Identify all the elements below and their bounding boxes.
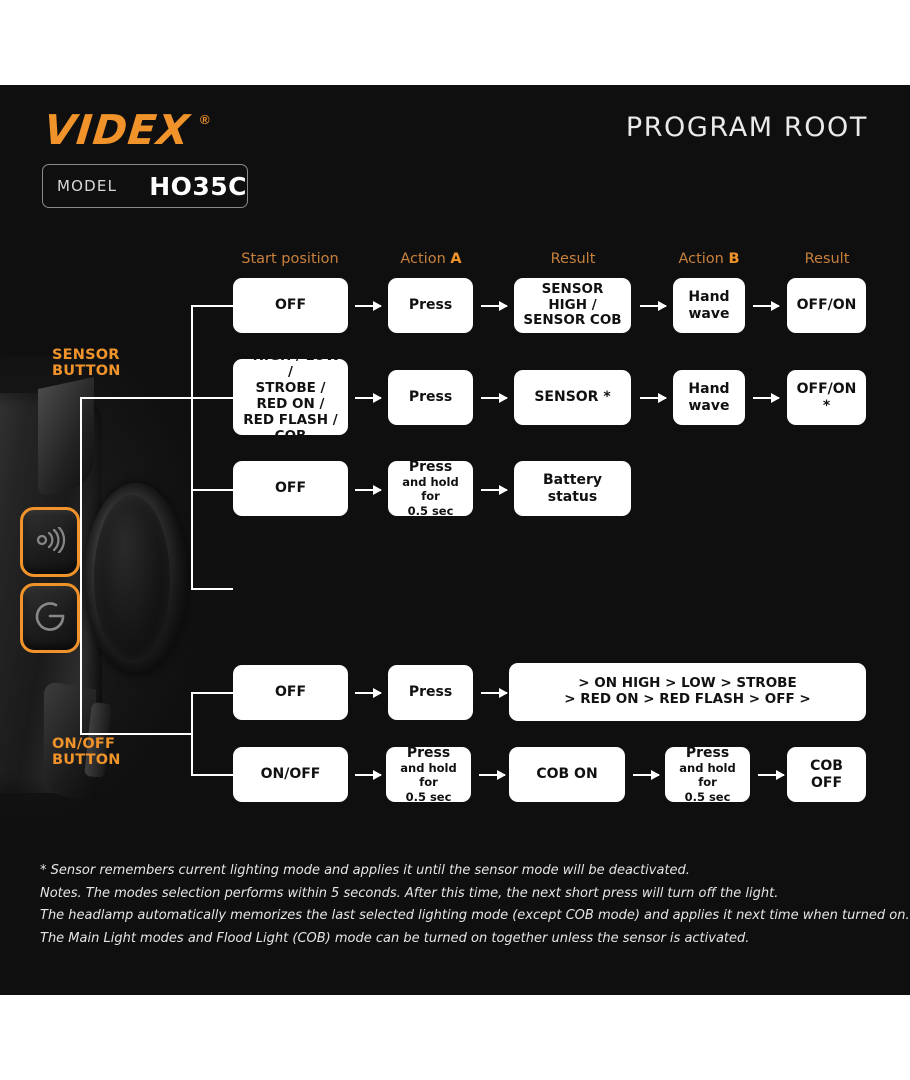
bracket-sensor-branch-3 bbox=[191, 489, 233, 491]
arrow-2c bbox=[640, 397, 666, 399]
side-label-onoff-button: ON/OFF BUTTON bbox=[52, 736, 121, 768]
node-label-main: Press bbox=[409, 459, 452, 475]
node-label-line2: STROBE / bbox=[256, 380, 326, 396]
node-label: Press and hold for 0.5 sec bbox=[671, 745, 744, 804]
node-action-hand-wave-1: Hand wave bbox=[673, 278, 745, 333]
node-label-line2: SENSOR COB bbox=[523, 312, 621, 328]
node-action-press-hold-3: Press and hold for 0.5 sec bbox=[665, 747, 750, 802]
arrow-1d bbox=[753, 305, 779, 307]
node-label-main: Press bbox=[686, 745, 729, 761]
node-start-off-1: OFF bbox=[233, 278, 348, 333]
node-label-line2: wave bbox=[688, 398, 729, 414]
side-label-line2: BUTTON bbox=[52, 363, 121, 379]
node-action-press-2: Press bbox=[388, 370, 473, 425]
bracket-onoff-branch-1 bbox=[191, 692, 233, 694]
node-label: Battery status bbox=[543, 472, 602, 505]
node-label: OFF bbox=[275, 684, 306, 701]
notes-block: * Sensor remembers current lighting mode… bbox=[40, 860, 880, 950]
arrow-1a bbox=[355, 305, 381, 307]
node-label: Press bbox=[409, 389, 452, 406]
column-header-label: Result bbox=[805, 251, 850, 267]
node-start-onoff: ON/OFF bbox=[233, 747, 348, 802]
side-label-sensor-button: SENSOR BUTTON bbox=[52, 347, 121, 379]
node-label-sub1: and hold for bbox=[671, 762, 744, 789]
node-label-line1: Battery bbox=[543, 472, 602, 488]
bracket-onoff-branch-2 bbox=[191, 774, 233, 776]
node-label: Hand wave bbox=[688, 289, 729, 322]
arrow-3b bbox=[481, 489, 507, 491]
bracket-sensor-stem bbox=[80, 397, 193, 399]
node-label-line1: Hand bbox=[688, 289, 729, 305]
node-label: * HIGH / LOW / STROBE / RED ON / RED FLA… bbox=[239, 349, 342, 445]
column-header-result-2: Result bbox=[788, 251, 866, 267]
node-start-off-2: OFF bbox=[233, 461, 348, 516]
column-header-action-a: Action A bbox=[388, 251, 474, 267]
node-label: OFF bbox=[275, 480, 306, 497]
node-label-sub1: and hold for bbox=[392, 762, 465, 789]
node-label-line1: SENSOR HIGH / bbox=[542, 281, 604, 313]
arrow-2a bbox=[355, 397, 381, 399]
node-label: COB ON bbox=[536, 766, 597, 783]
arrow-1c bbox=[640, 305, 666, 307]
node-label: SENSOR HIGH / SENSOR COB bbox=[520, 282, 625, 330]
bracket-sensor-branch-2 bbox=[191, 397, 233, 399]
node-start-off-3: OFF bbox=[233, 665, 348, 720]
side-label-line2: BUTTON bbox=[52, 752, 121, 768]
node-label-line2: wave bbox=[688, 306, 729, 322]
bracket-onoff-stem bbox=[80, 733, 193, 735]
bracket-onoff-photo-link bbox=[80, 397, 82, 735]
column-header-label: Result bbox=[551, 251, 596, 267]
node-label: Press bbox=[409, 297, 452, 314]
node-label: Press and hold for 0.5 sec bbox=[394, 459, 467, 518]
side-label-line1: SENSOR bbox=[52, 347, 120, 363]
node-result-offon-2: OFF/ON * bbox=[787, 370, 866, 425]
node-label: Press and hold for 0.5 sec bbox=[392, 745, 465, 804]
note-line-3: The headlamp automatically memorizes the… bbox=[40, 905, 880, 928]
arrow-3a bbox=[355, 489, 381, 491]
node-action-press-hold-1: Press and hold for 0.5 sec bbox=[388, 461, 473, 516]
node-label: > ON HIGH > LOW > STROBE > RED ON > RED … bbox=[564, 676, 810, 708]
column-header-label: Action bbox=[678, 251, 728, 267]
node-action-press-3: Press bbox=[388, 665, 473, 720]
column-header-emphasis: A bbox=[450, 251, 461, 267]
column-header-result-1: Result bbox=[514, 251, 632, 267]
arrow-5d bbox=[758, 774, 784, 776]
node-result-offon-1: OFF/ON bbox=[787, 278, 866, 333]
node-label-line5: COB bbox=[275, 428, 307, 444]
bracket-sensor-branch-1 bbox=[191, 305, 233, 307]
node-label: OFF/ON bbox=[797, 297, 857, 314]
note-line-2: Notes. The modes selection performs with… bbox=[40, 883, 880, 906]
node-result-battery-status: Battery status bbox=[514, 461, 631, 516]
arrow-2d bbox=[753, 397, 779, 399]
arrow-2b bbox=[481, 397, 507, 399]
page-root: VIDEX ® MODEL HO35C PROGRAM ROOT Start p… bbox=[0, 0, 910, 1080]
node-label-sub2: 0.5 sec bbox=[394, 505, 467, 519]
bracket-sensor-vertical bbox=[191, 305, 193, 590]
column-header-emphasis: B bbox=[728, 251, 739, 267]
node-action-press-hold-2: Press and hold for 0.5 sec bbox=[386, 747, 471, 802]
arrow-4a bbox=[355, 692, 381, 694]
node-label-line1: * HIGH / LOW / bbox=[241, 348, 340, 380]
column-header-label: Action bbox=[400, 251, 450, 267]
node-result-cob-off: COB OFF bbox=[787, 747, 866, 802]
node-label: OFF/ON * bbox=[793, 381, 860, 414]
note-line-4: The Main Light modes and Flood Light (CO… bbox=[40, 928, 880, 951]
side-label-line1: ON/OFF bbox=[52, 736, 115, 752]
node-start-modes: * HIGH / LOW / STROBE / RED ON / RED FLA… bbox=[233, 359, 348, 435]
node-label: COB OFF bbox=[793, 758, 860, 791]
node-label-line2: status bbox=[548, 489, 597, 505]
node-result-sensor: SENSOR * bbox=[514, 370, 631, 425]
node-label: OFF bbox=[275, 297, 306, 314]
node-label-line3: RED ON / bbox=[257, 396, 325, 412]
node-label-sub2: 0.5 sec bbox=[671, 791, 744, 805]
node-action-hand-wave-2: Hand wave bbox=[673, 370, 745, 425]
column-header-action-b: Action B bbox=[666, 251, 752, 267]
node-label-main: Press bbox=[407, 745, 450, 761]
node-result-mode-sequence: > ON HIGH > LOW > STROBE > RED ON > RED … bbox=[509, 663, 866, 721]
arrow-1b bbox=[481, 305, 507, 307]
node-label-line4: RED FLASH / bbox=[243, 412, 337, 428]
node-label: Press bbox=[409, 684, 452, 701]
arrow-5c bbox=[633, 774, 659, 776]
node-result-cob-on: COB ON bbox=[509, 747, 625, 802]
node-label: ON/OFF bbox=[261, 766, 321, 783]
node-action-press-1: Press bbox=[388, 278, 473, 333]
node-label: SENSOR * bbox=[534, 389, 610, 406]
column-header-start-position: Start position bbox=[232, 251, 348, 267]
program-flow-diagram: Start position Action A Result Action B … bbox=[0, 85, 910, 995]
arrow-5a bbox=[355, 774, 381, 776]
arrow-5b bbox=[479, 774, 505, 776]
note-line-1: * Sensor remembers current lighting mode… bbox=[40, 860, 880, 883]
arrow-4b bbox=[481, 692, 507, 694]
node-label-line1: Hand bbox=[688, 381, 729, 397]
bracket-sensor-branch-3b bbox=[191, 588, 233, 590]
poster-dark-area: VIDEX ® MODEL HO35C PROGRAM ROOT Start p… bbox=[0, 85, 910, 995]
node-label-line1: > ON HIGH > LOW > STROBE bbox=[578, 675, 796, 691]
node-label-line2: > RED ON > RED FLASH > OFF > bbox=[564, 691, 810, 707]
column-header-label: Start position bbox=[241, 251, 338, 267]
node-label: Hand wave bbox=[688, 381, 729, 414]
node-label-sub2: 0.5 sec bbox=[392, 791, 465, 805]
node-label-sub1: and hold for bbox=[394, 476, 467, 503]
node-result-sensor-high: SENSOR HIGH / SENSOR COB bbox=[514, 278, 631, 333]
